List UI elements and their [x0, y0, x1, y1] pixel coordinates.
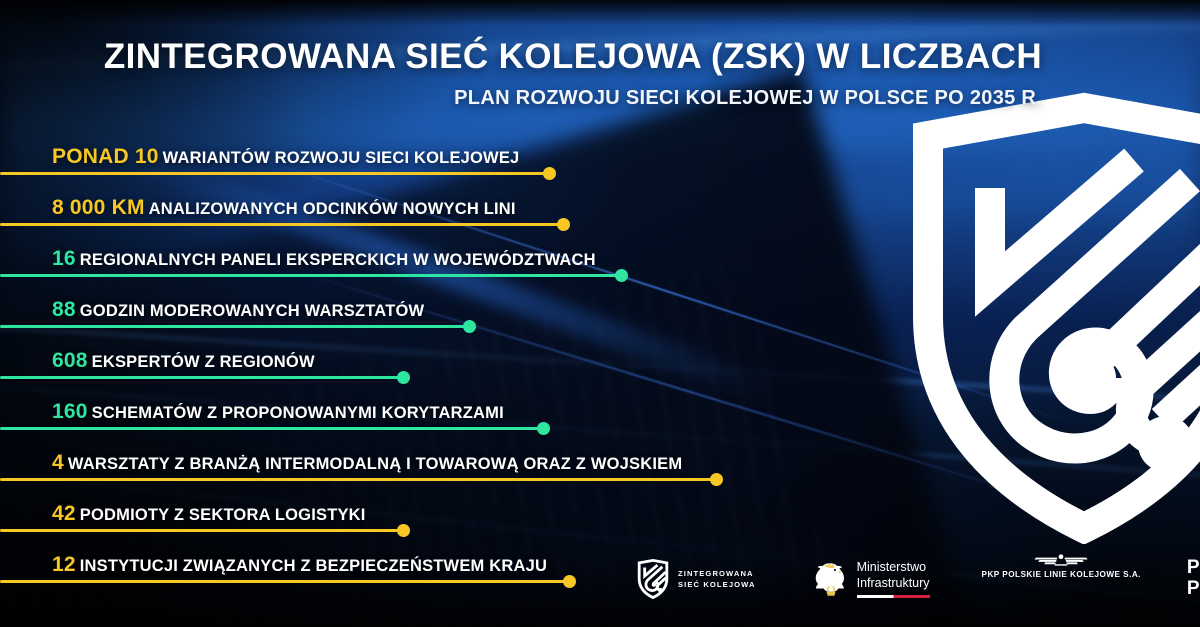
- stat-text: 4WARSZTATY Z BRANŻĄ INTERMODALNĄ I TOWAR…: [52, 451, 682, 475]
- stat-text: 16REGIONALNYCH PANELI EKSPERCKICH W WOJE…: [52, 247, 596, 271]
- stat-text: 12INSTYTUCJI ZWIĄZANYCH Z BEZPIECZEŃSTWE…: [52, 553, 547, 577]
- stat-label: WARSZTATY Z BRANŻĄ INTERMODALNĄ I TOWARO…: [68, 455, 682, 473]
- background-top-shade: [0, 0, 1200, 26]
- partner-logo-bar: ZINTEGROWANA SIEĆ KOLEJOWA Ministerstwo: [636, 553, 1200, 605]
- stat-value: 88: [52, 298, 76, 321]
- infographic-poster: ZINTEGROWANA SIEĆ KOLEJOWA (ZSK) W LICZB…: [0, 0, 1200, 627]
- stat-endpoint-dot: [557, 218, 570, 231]
- stat-label: EKSPERTÓW Z REGIONÓW: [92, 353, 315, 371]
- stat-label: GODZIN MODEROWANYCH WARSZTATÓW: [80, 302, 425, 320]
- logo-port-polska: Port Polska: [1187, 553, 1200, 605]
- stat-row: 608EKSPERTÓW Z REGIONÓW: [0, 337, 1200, 388]
- header: ZINTEGROWANA SIEĆ KOLEJOWA (ZSK) W LICZB…: [0, 38, 1200, 110]
- stat-value: 4: [52, 451, 64, 474]
- stat-endpoint-dot: [710, 473, 723, 486]
- zsk-shield-icon: [636, 559, 670, 599]
- logo-port-wordmark: Port Polska: [1187, 558, 1200, 600]
- stat-text: 88GODZIN MODEROWANYCH WARSZTATÓW: [52, 298, 424, 322]
- stat-value: 160: [52, 400, 88, 423]
- stat-rule: [0, 478, 716, 481]
- stat-rule: [0, 274, 621, 277]
- stat-text: 608EKSPERTÓW Z REGIONÓW: [52, 349, 315, 373]
- stat-row: 88GODZIN MODEROWANYCH WARSZTATÓW: [0, 286, 1200, 337]
- logo-zsk-line1: ZINTEGROWANA: [678, 568, 756, 579]
- logo-zsk: ZINTEGROWANA SIEĆ KOLEJOWA: [636, 553, 756, 605]
- stat-row: 16REGIONALNYCH PANELI EKSPERCKICH W WOJE…: [0, 235, 1200, 286]
- stat-label: WARIANTÓW ROZWOJU SIECI KOLEJOWEJ: [163, 149, 520, 167]
- stat-text: 8 000 KMANALIZOWANYCH ODCINKÓW NOWYCH LI…: [52, 196, 516, 220]
- stat-row: 160SCHEMATÓW Z PROPONOWANYMI KORYTARZAMI: [0, 388, 1200, 439]
- statistics-list: PONAD 10WARIANTÓW ROZWOJU SIECI KOLEJOWE…: [0, 133, 1200, 592]
- logo-ministry-wordmark: Ministerstwo Infrastruktury: [857, 560, 930, 598]
- polish-eagle-icon: [814, 560, 848, 598]
- logo-pkp-wordmark: PKP POLSKIE LINIE KOLEJOWE S.A.: [982, 570, 1141, 579]
- stat-label: SCHEMATÓW Z PROPONOWANYMI KORYTARZAMI: [92, 404, 504, 422]
- stat-endpoint-dot: [563, 575, 576, 588]
- stat-row: 42PODMIOTY Z SEKTORA LOGISTYKI: [0, 490, 1200, 541]
- stat-text: 42PODMIOTY Z SEKTORA LOGISTYKI: [52, 502, 366, 526]
- page-title: ZINTEGROWANA SIEĆ KOLEJOWA (ZSK) W LICZB…: [0, 38, 1042, 75]
- stat-endpoint-dot: [397, 524, 410, 537]
- logo-port-line2: Polska: [1187, 579, 1200, 600]
- stat-endpoint-dot: [537, 422, 550, 435]
- stat-value: PONAD 10: [52, 145, 159, 168]
- logo-ministry-of-infrastructure: Ministerstwo Infrastruktury: [814, 553, 930, 605]
- stat-value: 12: [52, 553, 76, 576]
- stat-rule: [0, 376, 403, 379]
- stat-value: 8 000 KM: [52, 196, 145, 219]
- stat-label: PODMIOTY Z SEKTORA LOGISTYKI: [80, 506, 366, 524]
- stat-row: PONAD 10WARIANTÓW ROZWOJU SIECI KOLEJOWE…: [0, 133, 1200, 184]
- stat-rule: [0, 427, 543, 430]
- stat-rule: [0, 580, 569, 583]
- stat-endpoint-dot: [615, 269, 628, 282]
- stat-label: ANALIZOWANYCH ODCINKÓW NOWYCH LINI: [149, 200, 516, 218]
- stat-label: REGIONALNYCH PANELI EKSPERCKICH W WOJEWÓ…: [80, 251, 596, 269]
- stat-text: 160SCHEMATÓW Z PROPONOWANYMI KORYTARZAMI: [52, 400, 504, 424]
- stat-endpoint-dot: [397, 371, 410, 384]
- stat-rule: [0, 223, 563, 226]
- stat-rule: [0, 325, 469, 328]
- stat-endpoint-dot: [543, 167, 556, 180]
- stat-value: 16: [52, 247, 76, 270]
- logo-ministry-line2: Infrastruktury: [857, 576, 930, 591]
- logo-port-line1: Port: [1187, 558, 1200, 579]
- logo-pkp-plk: PKP POLSKIE LINIE KOLEJOWE S.A.: [982, 553, 1141, 605]
- logo-zsk-line2: SIEĆ KOLEJOWA: [678, 579, 756, 590]
- stat-endpoint-dot: [463, 320, 476, 333]
- stat-row: 4WARSZTATY Z BRANŻĄ INTERMODALNĄ I TOWAR…: [0, 439, 1200, 490]
- stat-row: 8 000 KMANALIZOWANYCH ODCINKÓW NOWYCH LI…: [0, 184, 1200, 235]
- stat-rule: [0, 529, 403, 532]
- stat-value: 608: [52, 349, 88, 372]
- logo-ministry-line1: Ministerstwo: [857, 560, 930, 575]
- polish-flag-bar: [857, 595, 930, 598]
- stat-value: 42: [52, 502, 76, 525]
- stat-rule: [0, 172, 549, 175]
- stat-label: INSTYTUCJI ZWIĄZANYCH Z BEZPIECZEŃSTWEM …: [80, 557, 547, 575]
- stat-text: PONAD 10WARIANTÓW ROZWOJU SIECI KOLEJOWE…: [52, 145, 519, 169]
- pkp-winged-wheel-icon: [1033, 553, 1089, 567]
- page-subtitle: PLAN ROZWOJU SIECI KOLEJOWEJ W POLSCE PO…: [0, 87, 1042, 110]
- logo-zsk-wordmark: ZINTEGROWANA SIEĆ KOLEJOWA: [678, 568, 756, 590]
